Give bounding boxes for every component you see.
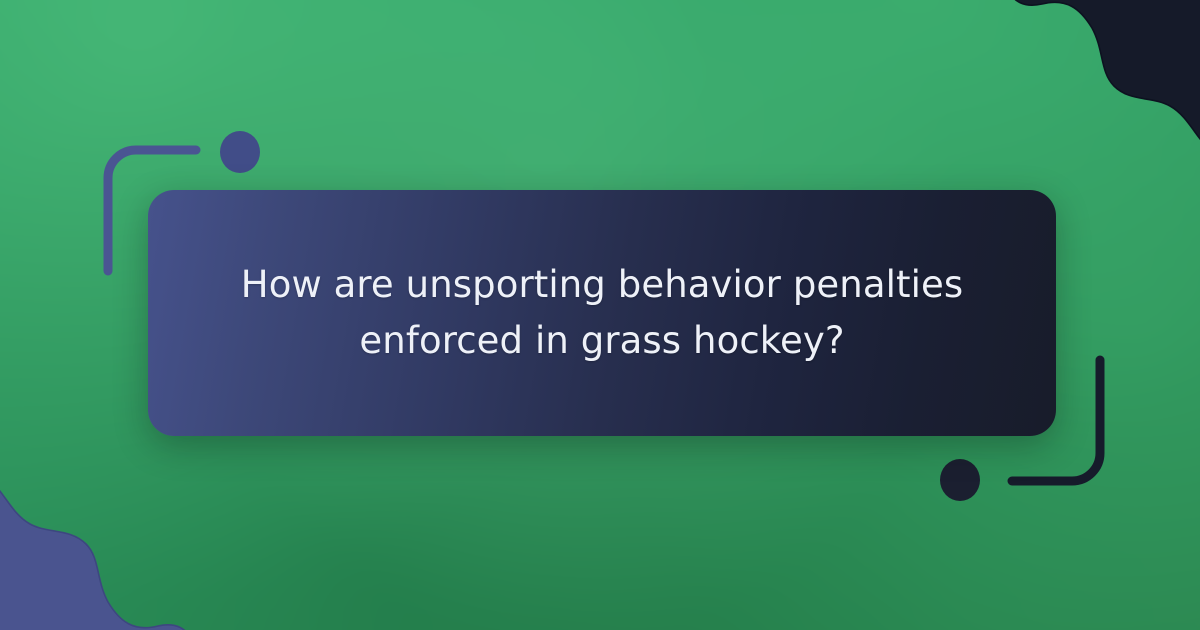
question-title: How are unsporting behavior penalties en…: [148, 257, 1056, 369]
question-card-graphic: How are unsporting behavior penalties en…: [0, 0, 1200, 630]
dot-top-left-icon: [220, 131, 260, 173]
dot-bottom-right-icon: [940, 459, 980, 501]
question-card: How are unsporting behavior penalties en…: [148, 190, 1056, 436]
